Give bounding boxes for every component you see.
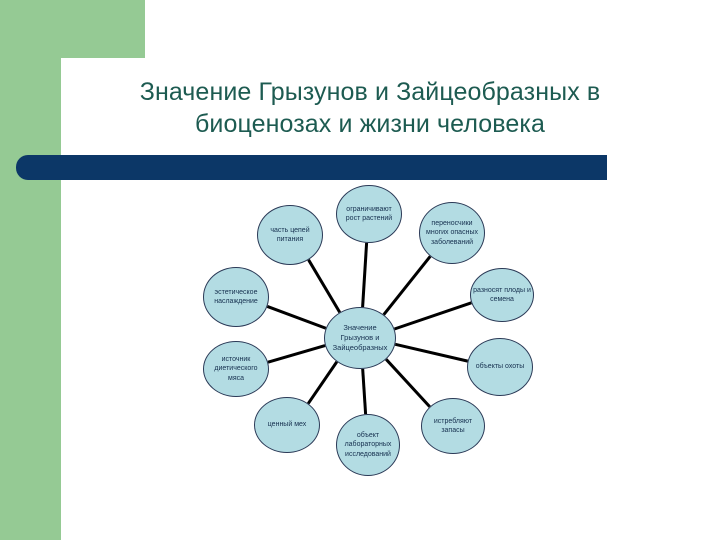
diagram-node-obekt-laboratornyh-issledovaniy[interactable]: объект лабораторных исследований <box>336 414 400 476</box>
connector-raznosyat-plody-i-semena <box>394 303 471 329</box>
node-label: переносчики многих опасных заболеваний <box>422 219 482 248</box>
diagram-node-esteticheskoe-naslazhdenie[interactable]: эстетическое наслаждение <box>203 267 269 327</box>
connector-obekty-ohoty <box>395 344 467 361</box>
connector-perenoschiki-zabolevaniy <box>384 256 431 314</box>
diagram-node-raznosyat-plody-i-semena[interactable]: разносят плоды и семена <box>470 268 534 322</box>
node-label: эстетическое наслаждение <box>206 288 266 307</box>
node-label: разносят плоды и семена <box>473 286 531 305</box>
radial-mind-map-diagram: ограничивают рост растенийпереносчики мн… <box>0 0 720 540</box>
node-label: источник диетического мяса <box>206 355 266 384</box>
node-label: Значение Грызунов и Зайцеобразных <box>327 323 393 353</box>
node-label: ценный мех <box>257 420 317 430</box>
diagram-node-ogranichivayut-rost-rasteniy[interactable]: ограничивают рост растений <box>336 185 402 243</box>
diagram-node-cennyy-meh[interactable]: ценный мех <box>254 397 320 453</box>
connector-chast-cepey-pitaniya <box>309 260 340 313</box>
diagram-node-perenoschiki-zabolevaniy[interactable]: переносчики многих опасных заболеваний <box>419 202 485 264</box>
connector-cennyy-meh <box>308 362 337 404</box>
connector-ogranichivayut-rost-rasteniy <box>363 243 367 307</box>
connector-obekt-laboratornyh-issledovaniy <box>363 369 366 414</box>
diagram-node-istreblyayut-zapasy[interactable]: истребляют запасы <box>421 398 485 454</box>
node-label: истребляют запасы <box>424 417 482 436</box>
connector-istreblyayut-zapasy <box>386 359 430 406</box>
node-label: объекты охоты <box>470 362 530 372</box>
node-label: объект лабораторных исследований <box>339 431 397 460</box>
diagram-node-istochnik-dieticheskogo-myasa[interactable]: источник диетического мяса <box>203 341 269 397</box>
connector-istochnik-dieticheskogo-myasa <box>268 346 325 363</box>
diagram-node-chast-cepey-pitaniya[interactable]: часть цепей питания <box>257 205 323 265</box>
presentation-slide: Значение Грызунов и Зайцеобразных в биоц… <box>0 0 720 540</box>
diagram-center-node[interactable]: Значение Грызунов и Зайцеобразных <box>324 307 396 369</box>
diagram-node-obekty-ohoty[interactable]: объекты охоты <box>467 338 533 396</box>
node-label: часть цепей питания <box>260 226 320 245</box>
connector-esteticheskoe-naslazhdenie <box>267 306 325 328</box>
node-label: ограничивают рост растений <box>339 205 399 224</box>
